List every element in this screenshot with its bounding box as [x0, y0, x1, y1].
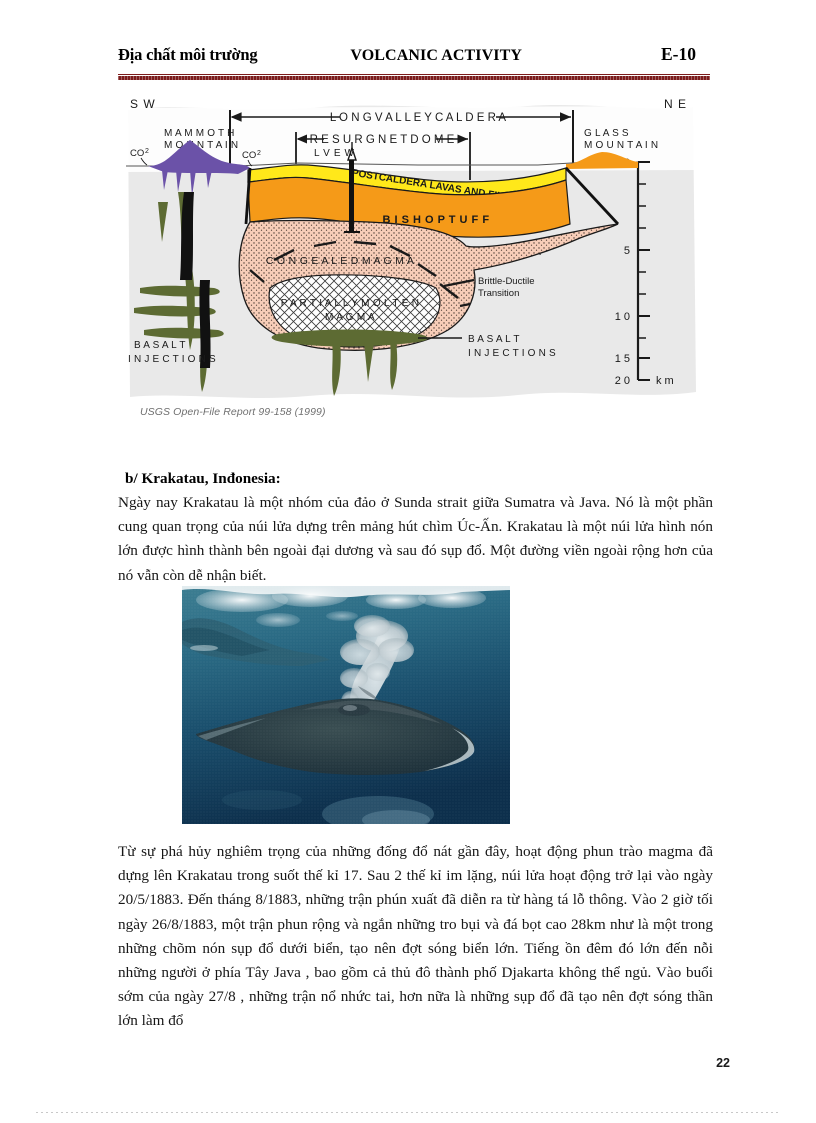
header-left-title: Địa chất môi trường — [118, 45, 257, 65]
depth-tick-15: 1 5 — [615, 353, 630, 365]
basalt-injections-right-line1: B A S A L T — [468, 334, 520, 345]
paragraph-krakatau-1883-eruption: Từ sự phá hủy nghiêm trọng của những đốn… — [118, 840, 713, 1034]
svg-text:2: 2 — [145, 148, 149, 155]
long-valley-caldera-cross-section-figure: 0 5 1 0 1 5 2 0 k m S W N E L O N G V A … — [118, 92, 710, 404]
krakatau-eruption-photo — [182, 586, 510, 824]
basalt-injections-left-line1: B A S A L T — [134, 340, 186, 351]
partially-molten-label-line2: M A G M A — [325, 312, 375, 323]
brittle-ductile-label-line1: Brittle-Ductile — [478, 276, 535, 287]
page-header: Địa chất môi trường VOLCANIC ACTIVITY E-… — [118, 44, 710, 78]
header-center-title: VOLCANIC ACTIVITY — [257, 47, 661, 65]
glass-mountain-label-line2: M O U N T A I N — [584, 140, 658, 151]
krakatau-photo-svg — [182, 586, 510, 824]
svg-text:2: 2 — [257, 150, 261, 157]
resurgent-dome-label: R E S U R G N E T D O M E — [310, 134, 455, 146]
basalt-injections-right-line2: I N J E C T I O N S — [468, 348, 556, 359]
depth-tick-20: 2 0 — [615, 375, 630, 387]
depth-tick-5: 5 — [624, 245, 630, 257]
header-section-code: E-10 — [661, 44, 710, 65]
mammoth-mountain-label-line1: M A M M O T H — [164, 128, 235, 139]
cross-section-svg: 0 5 1 0 1 5 2 0 k m S W N E L O N G V A … — [118, 92, 710, 404]
orientation-label-sw: S W — [130, 97, 156, 111]
orientation-label-ne: N E — [664, 97, 687, 111]
basalt-injections-left-line2: I N J E C T I O N S — [128, 354, 216, 365]
partially-molten-label-line1: P A R T I A L L Y M O L T E N — [281, 298, 420, 309]
svg-text:CO: CO — [130, 148, 144, 159]
congealed-magma-label: C O N G E A L E D M A G M A — [266, 255, 414, 267]
depth-scale-unit: k m — [656, 375, 674, 387]
brittle-ductile-label-line2: Transition — [478, 288, 519, 299]
footer-divider — [36, 1112, 780, 1113]
document-page: Địa chất môi trường VOLCANIC ACTIVITY E-… — [0, 0, 816, 1123]
section-subheading: b/ Krakatau, Inđonesia: — [125, 470, 281, 488]
depth-tick-10: 1 0 — [615, 311, 630, 323]
caldera-label: L O N G V A L L E Y C A L D E R A — [330, 112, 507, 124]
header-divider-rule — [118, 74, 710, 80]
glass-mountain-label-line1: G L A S S — [584, 128, 629, 139]
page-number: 22 — [716, 1056, 730, 1070]
svg-text:CO: CO — [242, 150, 256, 161]
figure-source-caption: USGS Open-File Report 99-158 (1999) — [140, 406, 326, 418]
paragraph-krakatau-intro: Ngày nay Krakatau là một nhóm của đảo ở … — [118, 491, 713, 588]
